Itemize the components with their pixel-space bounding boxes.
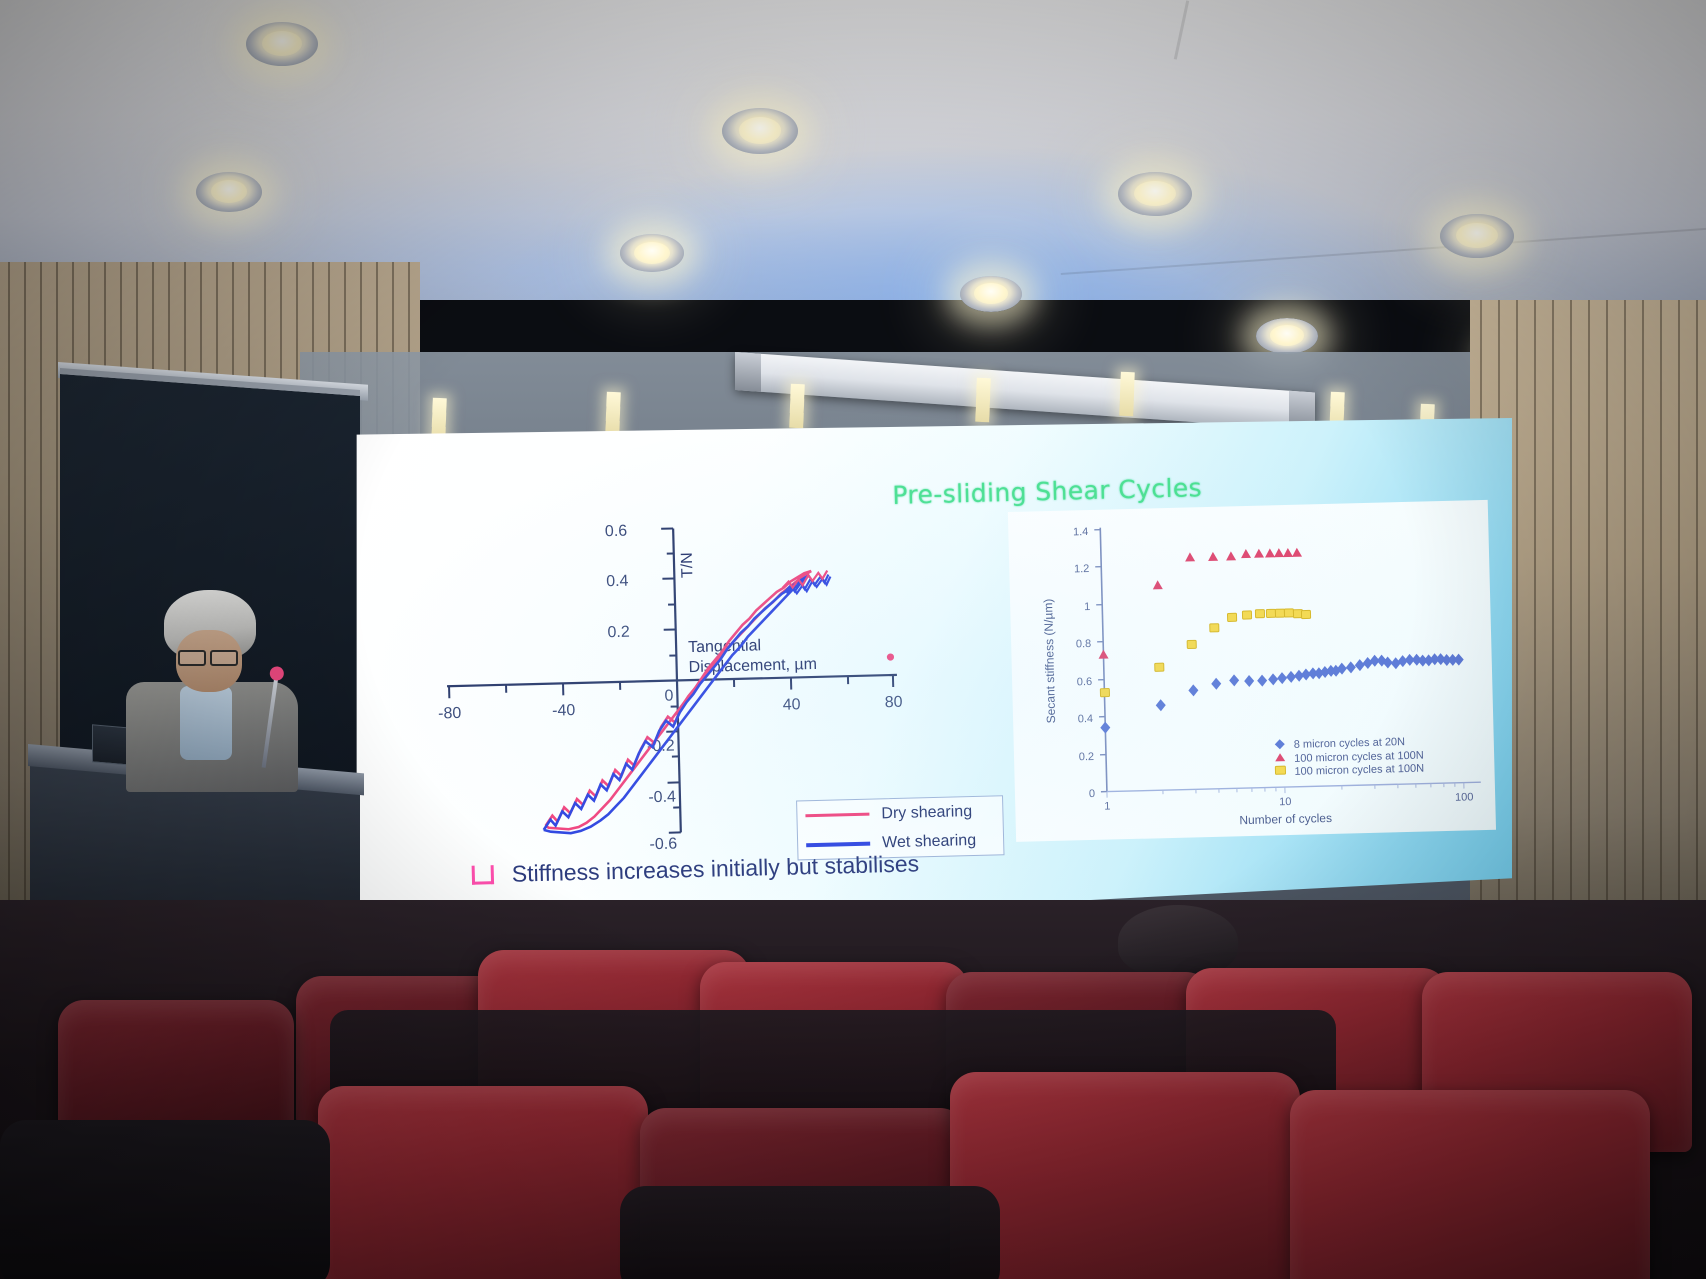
legend-swatch-wet [806,841,870,847]
legend-label-8micron: 8 micron cycles at 20N [1294,736,1406,751]
legend-label-100micron-b: 100 micron cycles at 100N [1294,763,1424,778]
svg-text:-40: -40 [552,702,576,720]
svg-text:0: 0 [1089,788,1095,800]
svg-text:T/N: T/N [679,552,697,578]
svg-text:-80: -80 [438,705,462,723]
wall-light-strip [1119,372,1135,416]
legend-label-dry: Dry shearing [881,803,972,823]
legend-marker-triangle [1275,753,1285,761]
ceiling-light [1440,214,1514,258]
svg-text:0.4: 0.4 [606,573,629,591]
svg-text:1.4: 1.4 [1073,526,1089,538]
svg-text:0.6: 0.6 [605,523,628,541]
svg-text:100: 100 [1455,791,1474,803]
svg-text:0.6: 0.6 [1077,676,1093,688]
svg-text:80: 80 [884,694,902,711]
chart-hysteresis-loop: 0.6 0.4 0.2 0 -0.2 -0.4 -0.6 -80 -40 40 … [423,504,951,857]
legend-marker-square [1275,766,1285,774]
svg-text:0: 0 [664,688,673,705]
bullet-marker-icon [472,865,494,885]
ceiling-light [1256,318,1318,354]
projection-screen: Pre-sliding Shear Cycles [352,418,1512,938]
seat-front-row [950,1072,1300,1279]
presenter-shirt [180,686,232,760]
legend-swatch-dry [805,813,869,818]
seat-front-shadow [620,1186,1000,1279]
wall-light-strip [975,378,991,422]
svg-text:1: 1 [1104,801,1110,813]
audience-head [1118,905,1238,977]
svg-text:0.8: 0.8 [1076,638,1092,650]
legend-marker-diamond [1275,739,1285,749]
ceiling-light [1118,172,1192,216]
svg-text:0.2: 0.2 [607,624,630,642]
svg-text:0.4: 0.4 [1078,713,1094,725]
svg-text:1.2: 1.2 [1074,563,1090,575]
chart-secant-stiffness: 1.4 1.2 1 0.8 0.6 0.4 0.2 0 [1008,500,1496,842]
ceiling-light [196,172,262,212]
seat-front-row [1290,1090,1650,1279]
svg-text:Number of cycles: Number of cycles [1239,811,1332,827]
ceiling-light [722,108,798,154]
svg-text:10: 10 [1279,796,1292,808]
ceiling-light [620,234,684,272]
seat-front-row [318,1086,648,1279]
lecture-hall-photo: Pre-sliding Shear Cycles [0,0,1706,1279]
ceiling-light [246,22,318,66]
svg-text:-0.6: -0.6 [649,836,677,854]
svg-text:1: 1 [1084,601,1090,613]
svg-text:-0.4: -0.4 [648,789,676,807]
glasses-icon [178,650,238,662]
ceiling-light [960,276,1022,312]
chart-secant-legend: 8 micron cycles at 20N 100 micron cycles… [1275,736,1425,779]
svg-text:0.2: 0.2 [1079,751,1095,763]
svg-text:40: 40 [783,696,801,713]
svg-text:Secant stiffness (N/µm): Secant stiffness (N/µm) [1041,598,1058,723]
seat-front-row [0,1120,330,1279]
bullet-text: Stiffness increases initially but stabil… [511,850,919,887]
stray-marker [887,653,894,660]
chart-secant-svg: 1.4 1.2 1 0.8 0.6 0.4 0.2 0 [1008,500,1496,842]
